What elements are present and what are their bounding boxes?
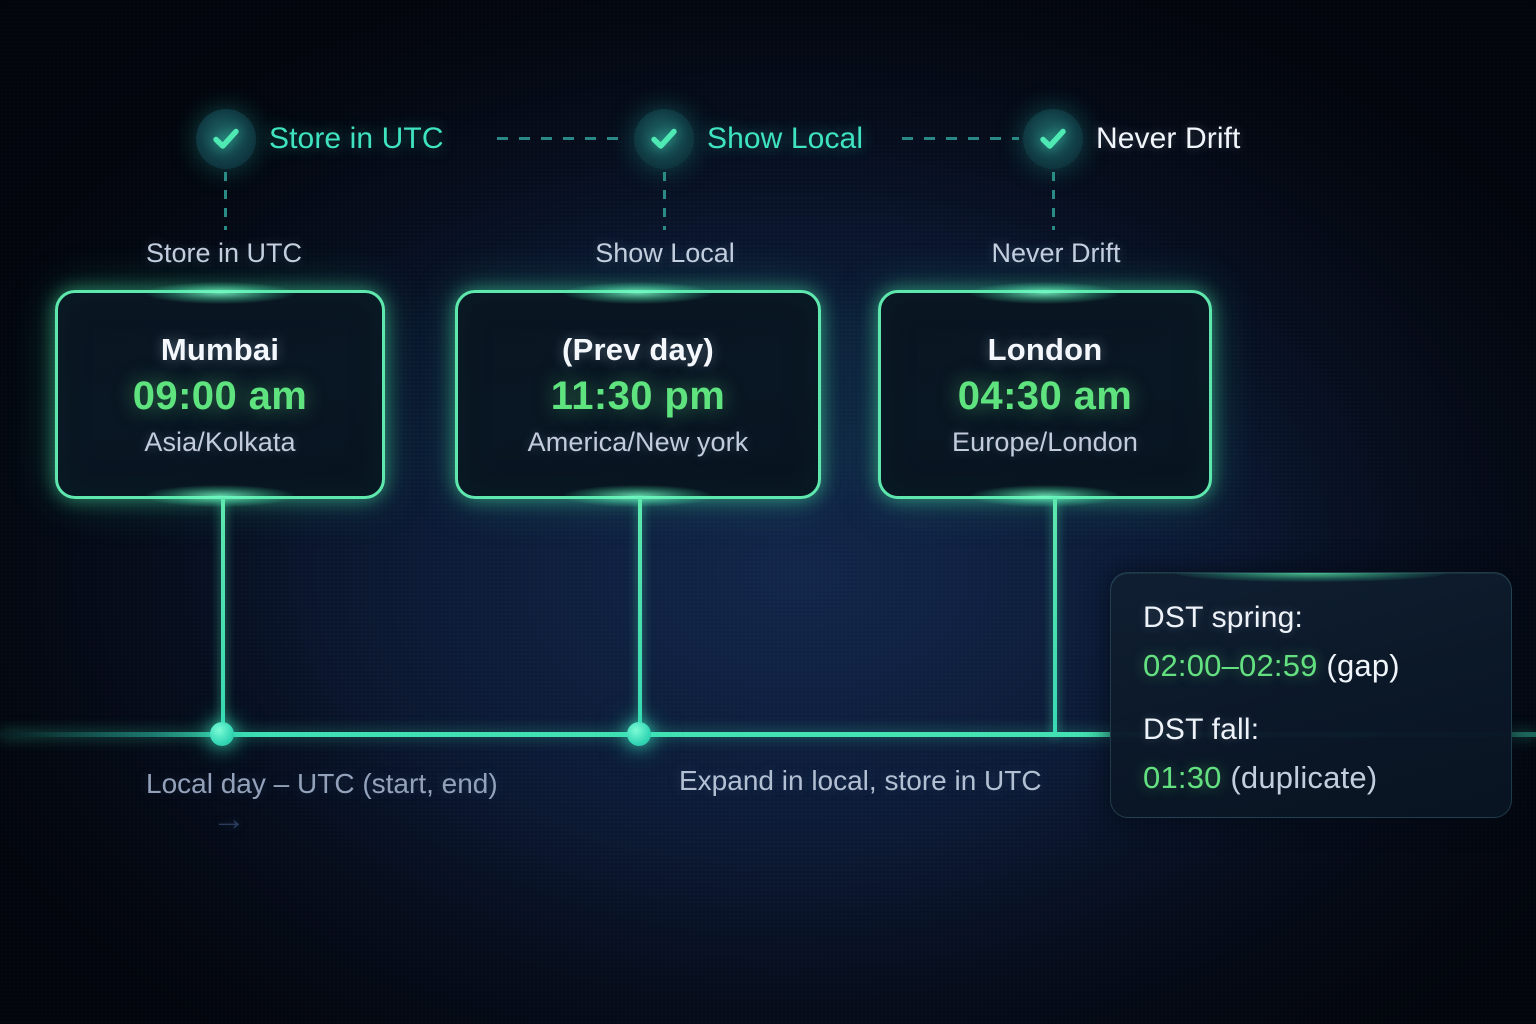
check-icon	[1023, 109, 1083, 169]
checklist-row: Store in UTC Show Local Never Drift	[0, 109, 1536, 169]
dst-spring-range: 02:00–02:59	[1143, 648, 1318, 683]
dst-fall-time: 01:30	[1143, 760, 1222, 795]
timezone-card-london[interactable]: London 04:30 am Europe/London	[878, 290, 1212, 499]
card-city-label: Mumbai	[161, 332, 279, 368]
checklist-item-store-in-utc[interactable]: Store in UTC	[196, 109, 444, 169]
glow-bloom-top	[970, 282, 1120, 304]
dst-spring-row: DST spring: 02:00–02:59 (gap)	[1143, 603, 1511, 681]
card-connector-1	[221, 498, 225, 736]
dashed-connector-2	[902, 137, 1019, 140]
card-caption-2: Show Local	[595, 238, 735, 269]
dst-fall-suffix: (duplicate)	[1230, 760, 1377, 795]
timeline-node-1[interactable]	[210, 722, 234, 746]
card-city-label: London	[988, 332, 1103, 368]
dashed-connector-1	[497, 137, 629, 140]
checklist-item-label: Store in UTC	[269, 122, 444, 156]
checklist-item-label: Never Drift	[1096, 122, 1240, 156]
card-timezone-label: Asia/Kolkata	[144, 427, 295, 458]
check-icon	[634, 109, 694, 169]
glow-bloom-bottom	[970, 485, 1120, 507]
timezone-card-new-york[interactable]: (Prev day) 11:30 pm America/New york	[455, 290, 821, 499]
dst-fall-heading: DST fall:	[1143, 715, 1511, 745]
infographic-canvas: Store in UTC Show Local Never Drift	[0, 0, 1536, 1024]
card-city-label: (Prev day)	[562, 332, 714, 368]
timeline-label-expand-local: Expand in local, store in UTC	[679, 765, 1042, 797]
card-time-value: 04:30 am	[958, 374, 1132, 419]
dst-info-panel: DST spring: 02:00–02:59 (gap) DST fall: …	[1110, 572, 1512, 818]
dashed-dropper-3	[1052, 172, 1055, 230]
card-timezone-label: America/New york	[528, 427, 749, 458]
card-caption-1: Store in UTC	[146, 238, 302, 269]
card-time-value: 09:00 am	[133, 374, 307, 419]
checklist-item-show-local[interactable]: Show Local	[634, 109, 863, 169]
checklist-item-never-drift[interactable]: Never Drift	[1023, 109, 1240, 169]
timeline-label-local-day: Local day – UTC (start, end)	[146, 768, 498, 800]
glow-bloom-top	[563, 282, 713, 304]
checklist-item-label: Show Local	[707, 122, 863, 156]
dashed-dropper-1	[224, 172, 227, 230]
dst-fall-row: DST fall: 01:30 (duplicate)	[1143, 715, 1511, 793]
dashed-dropper-2	[663, 172, 666, 230]
glow-bloom-bottom	[145, 485, 295, 507]
arrow-right-icon: →	[212, 802, 246, 836]
dst-fall-value-row: 01:30 (duplicate)	[1143, 762, 1511, 793]
card-connector-2	[638, 498, 642, 736]
timeline-node-2[interactable]	[627, 722, 651, 746]
card-time-value: 11:30 pm	[551, 374, 725, 419]
card-connector-3	[1053, 498, 1057, 736]
card-timezone-label: Europe/London	[952, 427, 1138, 458]
dst-spring-suffix: (gap)	[1326, 648, 1399, 683]
timezone-card-mumbai[interactable]: Mumbai 09:00 am Asia/Kolkata	[55, 290, 385, 499]
dst-spring-value-row: 02:00–02:59 (gap)	[1143, 650, 1511, 681]
dst-spring-heading: DST spring:	[1143, 603, 1511, 633]
check-icon	[196, 109, 256, 169]
card-caption-3: Never Drift	[991, 238, 1120, 269]
glow-bloom-top	[145, 282, 295, 304]
